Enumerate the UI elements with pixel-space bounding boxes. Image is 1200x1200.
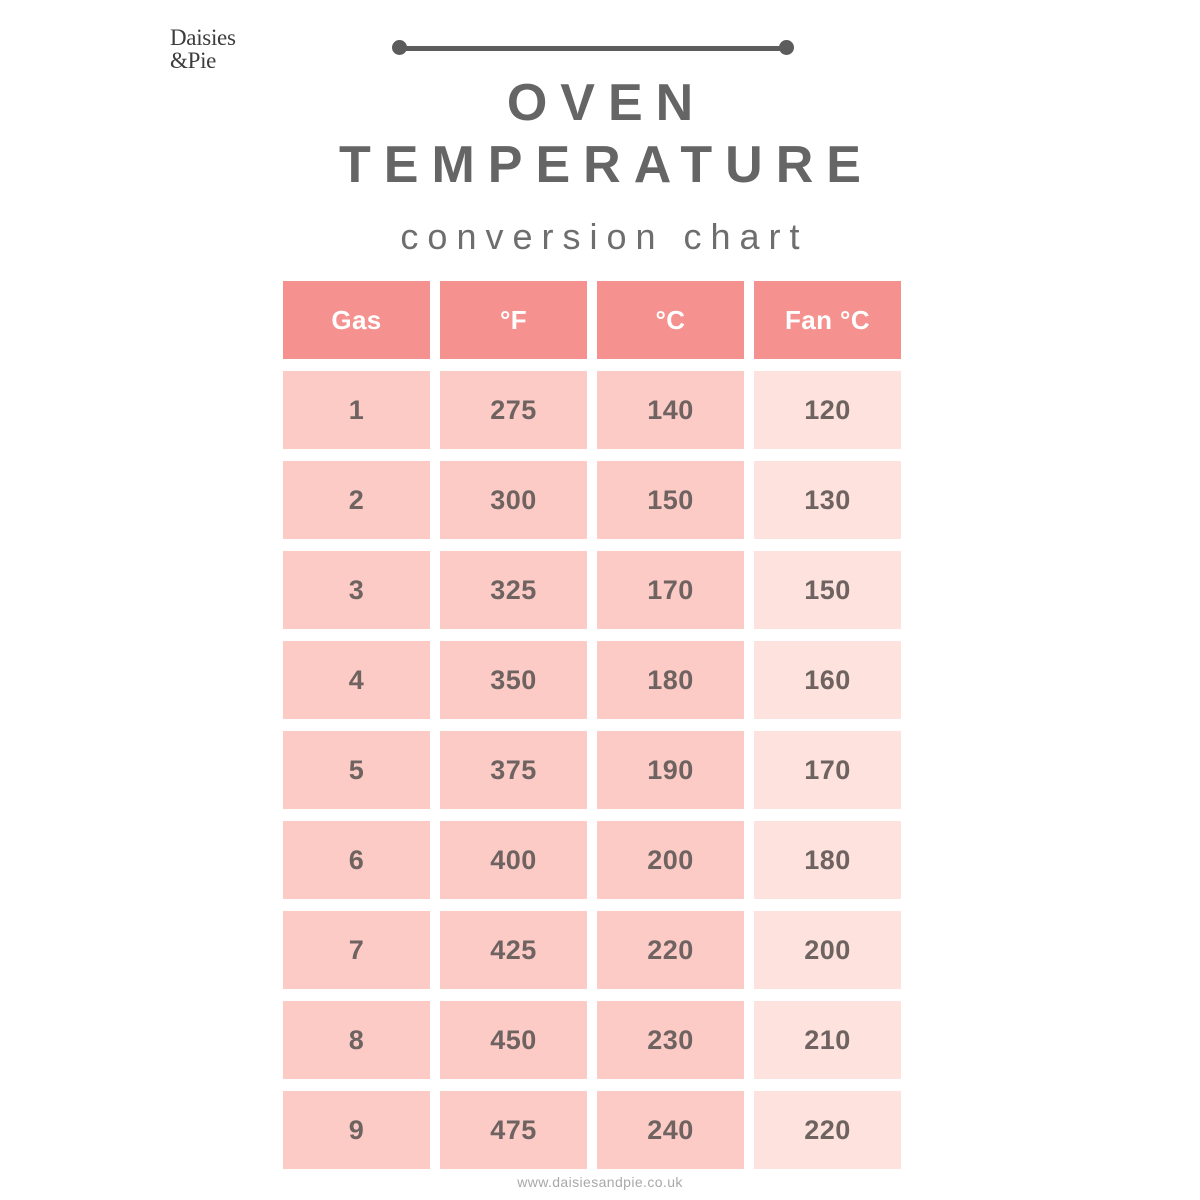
cell-gas: 1 (283, 371, 430, 449)
table-row: 5 375 190 170 (283, 731, 903, 809)
cell-gas: 4 (283, 641, 430, 719)
cell-fan-celsius: 170 (754, 731, 901, 809)
cell-celsius: 230 (597, 1001, 744, 1079)
cell-fahrenheit: 275 (440, 371, 587, 449)
table-row: 4 350 180 160 (283, 641, 903, 719)
divider-line (398, 46, 788, 51)
conversion-table: Gas °F °C Fan °C 1 275 140 120 2 300 150… (283, 281, 903, 1181)
cell-gas: 9 (283, 1091, 430, 1169)
cell-celsius: 180 (597, 641, 744, 719)
footer-url: www.daisiesandpie.co.uk (0, 1174, 1200, 1190)
cell-fahrenheit: 300 (440, 461, 587, 539)
brand-logo-line2: &Pie (170, 49, 236, 72)
cell-fahrenheit: 350 (440, 641, 587, 719)
cell-gas: 8 (283, 1001, 430, 1079)
cell-fan-celsius: 160 (754, 641, 901, 719)
table-row: 2 300 150 130 (283, 461, 903, 539)
column-header-fahrenheit: °F (440, 281, 587, 359)
page-title-line1: OVEN (0, 72, 1200, 134)
table-row: 3 325 170 150 (283, 551, 903, 629)
cell-gas: 2 (283, 461, 430, 539)
table-row: 1 275 140 120 (283, 371, 903, 449)
brand-logo: Daisies &Pie (170, 26, 236, 73)
cell-fahrenheit: 425 (440, 911, 587, 989)
cell-fahrenheit: 325 (440, 551, 587, 629)
page-subtitle: conversion chart (0, 216, 1200, 258)
cell-celsius: 150 (597, 461, 744, 539)
cell-gas: 7 (283, 911, 430, 989)
cell-fan-celsius: 130 (754, 461, 901, 539)
cell-fan-celsius: 120 (754, 371, 901, 449)
page-title: OVEN TEMPERATURE (0, 72, 1200, 196)
table-row: 8 450 230 210 (283, 1001, 903, 1079)
cell-fan-celsius: 220 (754, 1091, 901, 1169)
brand-logo-line1: Daisies (170, 26, 236, 49)
cell-fan-celsius: 200 (754, 911, 901, 989)
cell-gas: 3 (283, 551, 430, 629)
cell-celsius: 190 (597, 731, 744, 809)
divider-dot-right-icon (779, 40, 794, 55)
cell-fan-celsius: 210 (754, 1001, 901, 1079)
table-header-row: Gas °F °C Fan °C (283, 281, 903, 359)
cell-gas: 6 (283, 821, 430, 899)
cell-fahrenheit: 400 (440, 821, 587, 899)
cell-fan-celsius: 150 (754, 551, 901, 629)
table-row: 9 475 240 220 (283, 1091, 903, 1169)
page-title-line2: TEMPERATURE (0, 134, 1200, 196)
cell-celsius: 220 (597, 911, 744, 989)
column-header-gas: Gas (283, 281, 430, 359)
cell-celsius: 200 (597, 821, 744, 899)
cell-fahrenheit: 475 (440, 1091, 587, 1169)
cell-celsius: 170 (597, 551, 744, 629)
cell-fahrenheit: 375 (440, 731, 587, 809)
cell-celsius: 240 (597, 1091, 744, 1169)
cell-celsius: 140 (597, 371, 744, 449)
column-header-fan-celsius: Fan °C (754, 281, 901, 359)
dotted-rule-divider-icon (392, 40, 794, 56)
cell-gas: 5 (283, 731, 430, 809)
column-header-celsius: °C (597, 281, 744, 359)
table-row: 6 400 200 180 (283, 821, 903, 899)
cell-fan-celsius: 180 (754, 821, 901, 899)
table-row: 7 425 220 200 (283, 911, 903, 989)
cell-fahrenheit: 450 (440, 1001, 587, 1079)
